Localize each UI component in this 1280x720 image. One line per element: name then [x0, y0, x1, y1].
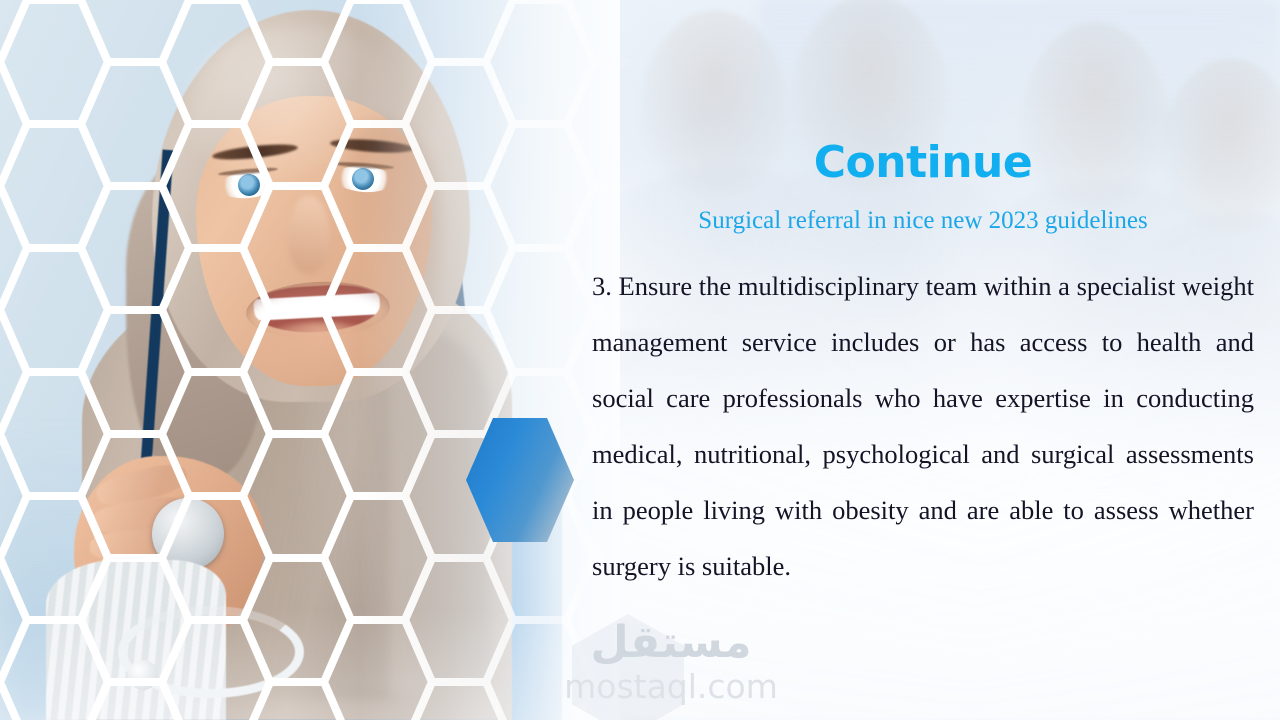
- presentation-slide: Continue Surgical referral in nice new 2…: [0, 0, 1280, 720]
- slide-body-text: 3. Ensure the multidisciplinary team wit…: [592, 258, 1254, 594]
- slide-subtitle: Surgical referral in nice new 2023 guide…: [592, 206, 1254, 236]
- doctor-photo: [0, 0, 620, 720]
- photo-bottom-fade: [0, 610, 620, 720]
- slide-title: Continue: [592, 140, 1254, 186]
- text-content-column: Continue Surgical referral in nice new 2…: [592, 0, 1254, 720]
